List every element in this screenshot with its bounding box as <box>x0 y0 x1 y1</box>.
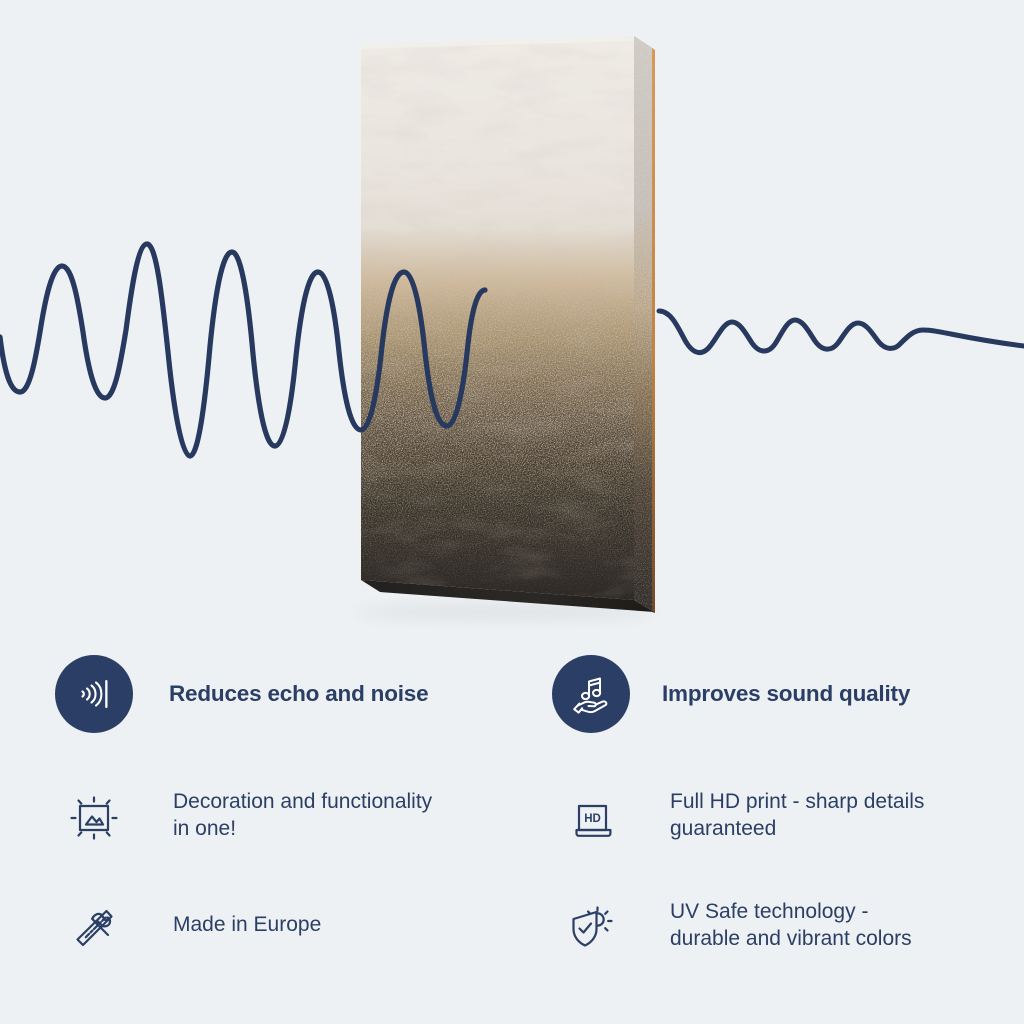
feature-hd-print: HD Full HD print - sharp details guarant… <box>562 788 924 852</box>
feature-line: in one! <box>173 815 432 842</box>
feature-text: UV Safe technology - durable and vibrant… <box>670 898 912 952</box>
picture-frame-shine-icon <box>65 791 123 849</box>
feature-text: Decoration and functionality in one! <box>173 788 432 842</box>
feature-line: Full HD print - sharp details <box>670 788 924 815</box>
ruler-hammer-icon <box>66 902 122 958</box>
music-note-hand-icon <box>567 670 615 718</box>
badge-reduces-echo: Reduces echo and noise <box>55 655 428 733</box>
feature-icon-wrap <box>562 898 626 962</box>
feature-line: Made in Europe <box>173 911 321 938</box>
infographic-page: Reduces echo and noise Improves s <box>0 0 1024 1024</box>
feature-line: UV Safe technology - <box>670 898 912 925</box>
feature-made-in-europe: Made in Europe <box>62 898 321 962</box>
panel-line-icon <box>105 680 107 708</box>
feature-decoration: Decoration and functionality in one! <box>62 788 432 852</box>
uv-shield-sun-icon <box>566 902 622 958</box>
sound-waves-panel-icon <box>71 671 117 717</box>
wave-incoming <box>0 244 485 456</box>
feature-text: Full HD print - sharp details guaranteed <box>670 788 924 842</box>
hd-screen-icon: HD <box>568 794 620 846</box>
feature-icon-wrap <box>62 788 126 852</box>
badge-circle <box>55 655 133 733</box>
badge-label: Reduces echo and noise <box>169 681 428 707</box>
feature-line: guaranteed <box>670 815 924 842</box>
badge-label: Improves sound quality <box>662 681 910 707</box>
wave-outgoing <box>659 311 1024 353</box>
feature-icon-wrap: HD <box>562 788 626 852</box>
feature-line: durable and vibrant colors <box>670 925 912 952</box>
feature-uv-safe: UV Safe technology - durable and vibrant… <box>562 898 912 962</box>
feature-line: Decoration and functionality <box>173 788 432 815</box>
badge-circle <box>552 655 630 733</box>
badge-improves-sound: Improves sound quality <box>552 655 910 733</box>
feature-icon-wrap <box>62 898 126 962</box>
features-section: Reduces echo and noise Improves s <box>0 640 1024 1024</box>
feature-text: Made in Europe <box>173 911 321 938</box>
sound-wave <box>0 0 1024 640</box>
hd-label: HD <box>584 813 601 825</box>
hero-section <box>0 0 1024 640</box>
